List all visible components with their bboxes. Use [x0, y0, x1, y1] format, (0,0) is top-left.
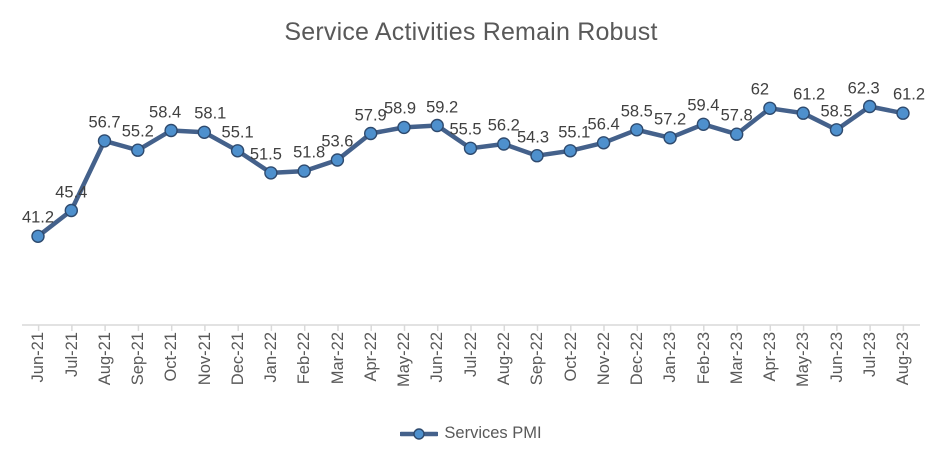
data-point [831, 124, 843, 136]
data-point-label: 58.4 [149, 104, 181, 121]
data-point [731, 128, 743, 140]
data-point-label: 61.2 [893, 87, 925, 104]
data-point-label: 55.1 [558, 124, 590, 141]
data-point-label: 57.8 [721, 108, 753, 125]
data-point-label: 59.4 [687, 98, 719, 115]
data-point-label: 55.5 [449, 122, 481, 139]
x-axis-label: Nov-22 [596, 332, 613, 385]
data-point [564, 145, 576, 157]
data-point [664, 132, 676, 144]
x-axis-label: Oct-21 [163, 332, 180, 382]
data-point-label: 51.5 [250, 146, 282, 163]
data-point-label: 58.5 [820, 103, 852, 120]
x-axis-label: May-22 [396, 332, 413, 387]
data-point [331, 154, 343, 166]
data-point [165, 125, 177, 137]
x-axis-label: Sep-21 [130, 332, 147, 385]
data-point [498, 138, 510, 150]
x-axis-label: Sep-22 [529, 332, 546, 385]
x-axis-label: Aug-22 [496, 332, 513, 385]
data-point-label: 57.2 [654, 111, 686, 128]
data-point [99, 135, 111, 147]
x-axis-label: May-23 [795, 332, 812, 387]
data-point [531, 150, 543, 162]
data-point [398, 121, 410, 133]
data-point-label: 62 [751, 82, 769, 99]
x-axis-label: Jul-23 [862, 332, 879, 377]
x-axis-label: Dec-21 [230, 332, 247, 385]
data-point-label: 56.7 [88, 114, 120, 131]
data-point [897, 107, 909, 119]
data-point-label: 54.3 [517, 129, 549, 146]
x-axis-label: Nov-21 [197, 332, 214, 385]
x-axis-label: Jan-22 [263, 332, 280, 382]
data-point [631, 124, 643, 136]
data-point [797, 107, 809, 119]
x-axis-label: Oct-22 [563, 332, 580, 382]
x-axis-label: Apr-23 [762, 332, 779, 382]
x-axis-ticks [39, 325, 904, 331]
chart-container: Service Activities Remain Robust 41.245.… [0, 0, 942, 466]
x-axis-label: Feb-23 [696, 332, 713, 384]
x-axis-label: Jul-22 [463, 332, 480, 377]
x-axis-label: Mar-23 [729, 332, 746, 384]
x-axis-label: Jul-21 [64, 332, 81, 377]
data-point-label: 58.1 [194, 106, 226, 123]
data-point [298, 165, 310, 177]
legend-marker-icon [400, 427, 438, 441]
x-axis-label: Dec-22 [629, 332, 646, 385]
plot-area: 41.245.456.755.258.458.155.151.551.853.6… [0, 0, 942, 466]
data-point-label: 61.2 [793, 87, 825, 104]
data-point-label: 58.5 [621, 103, 653, 120]
data-point [65, 205, 77, 217]
x-axis-label: Feb-22 [296, 332, 313, 384]
data-point-label: 56.2 [488, 118, 520, 135]
data-point-label: 56.4 [588, 116, 620, 133]
data-point-label: 59.2 [426, 99, 458, 116]
data-point-label: 57.9 [355, 107, 387, 124]
x-axis-label: Apr-22 [363, 332, 380, 382]
data-point [32, 230, 44, 242]
x-axis-label: Aug-21 [97, 332, 114, 385]
legend-label-services-pmi: Services PMI [444, 424, 541, 443]
data-point [198, 126, 210, 138]
data-point [864, 101, 876, 113]
data-point-label: 55.2 [122, 124, 154, 141]
data-point-label: 55.1 [222, 124, 254, 141]
x-axis-label: Jun-21 [30, 332, 47, 382]
chart-svg [0, 0, 942, 466]
data-point-label: 53.6 [321, 134, 353, 151]
chart-legend: Services PMI [0, 424, 942, 443]
data-point [764, 102, 776, 114]
data-point [465, 142, 477, 154]
data-point [265, 167, 277, 179]
data-point [598, 137, 610, 149]
axis-group [22, 325, 920, 331]
data-point [232, 145, 244, 157]
data-point [365, 128, 377, 140]
data-point [697, 118, 709, 130]
data-point-label: 41.2 [22, 210, 54, 227]
data-point-label: 62.3 [848, 80, 880, 97]
x-axis-label: Jun-23 [829, 332, 846, 382]
data-point-label: 58.9 [384, 101, 416, 118]
data-point-label: 45.4 [55, 184, 87, 201]
data-point [132, 144, 144, 156]
x-axis-label: Mar-22 [330, 332, 347, 384]
x-axis-label: Aug-23 [895, 332, 912, 385]
x-axis-label: Jan-23 [662, 332, 679, 382]
data-point [431, 120, 443, 132]
x-axis-label: Jun-22 [429, 332, 446, 382]
